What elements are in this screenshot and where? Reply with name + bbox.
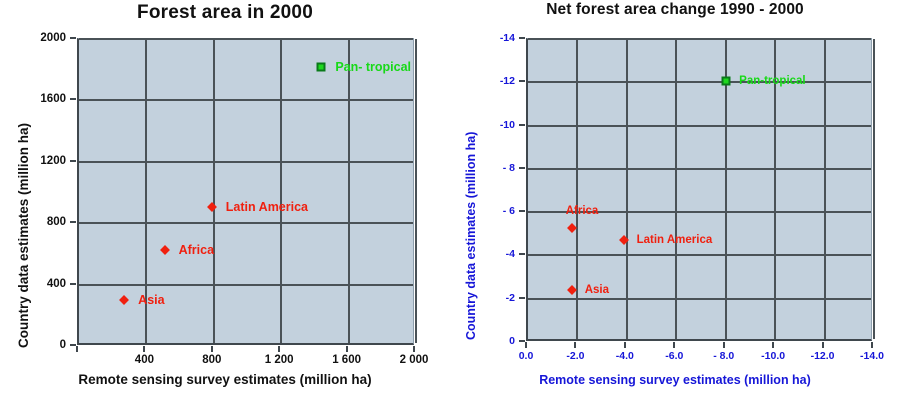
- chart-title: Forest area in 2000: [0, 2, 450, 24]
- y-axis-tick-label: 1200: [0, 155, 66, 167]
- x-axis-tick: [574, 342, 576, 348]
- y-axis-tick: [519, 210, 525, 212]
- x-axis-tick-label: 1 600: [332, 354, 361, 366]
- gridline-vertical: [576, 39, 578, 339]
- x-axis-tick: [624, 342, 626, 348]
- x-axis-tick-label: 0.0: [519, 350, 534, 362]
- x-axis-tick: [723, 342, 725, 348]
- gridline-horizontal: [79, 284, 413, 286]
- data-point-label: Asia: [138, 293, 164, 307]
- x-axis-tick-label: -6.0: [665, 350, 683, 362]
- y-axis-tick-label: -10: [450, 119, 515, 131]
- gridline-horizontal: [79, 222, 413, 224]
- y-axis-tick-label: 2000: [0, 32, 66, 44]
- x-axis-tick: [822, 342, 824, 348]
- x-axis-tick: [278, 346, 280, 352]
- y-axis-tick-label: -12: [450, 75, 515, 87]
- chart-panel-forest-area-2000: Forest area in 2000 04008001200160020004…: [0, 0, 450, 400]
- plot-area: [526, 38, 872, 341]
- y-axis-tick-label: -4: [450, 248, 515, 260]
- y-axis-tick-label: - 6: [450, 205, 515, 217]
- data-point-label: Africa: [179, 243, 214, 257]
- gridline-vertical: [626, 39, 628, 339]
- x-axis-tick-label: - 8.0: [713, 350, 734, 362]
- gridline-vertical: [280, 39, 282, 343]
- data-point-marker[interactable]: [722, 77, 731, 86]
- x-axis-tick: [413, 346, 415, 352]
- x-axis-tick-label: 800: [202, 354, 221, 366]
- data-point-label: Pan- tropical: [335, 60, 411, 74]
- y-axis-tick-label: - 8: [450, 162, 515, 174]
- gridline-horizontal: [528, 125, 871, 127]
- y-axis-tick-label: 1600: [0, 93, 66, 105]
- x-axis-tick: [772, 342, 774, 348]
- gridline-vertical: [213, 39, 215, 343]
- y-axis-tick: [70, 283, 76, 285]
- data-point-label: Pan-tropical: [739, 75, 805, 87]
- gridline-horizontal: [528, 168, 871, 170]
- y-axis-tick: [519, 167, 525, 169]
- x-axis-tick: [346, 346, 348, 352]
- data-point-label: Asia: [585, 284, 609, 296]
- x-axis-tick: [143, 346, 145, 352]
- gridline-vertical: [873, 39, 875, 339]
- gridline-vertical: [675, 39, 677, 339]
- y-axis-tick: [519, 253, 525, 255]
- y-axis-tick-label: 0: [0, 339, 66, 351]
- x-axis-tick-label: -10.0: [761, 350, 785, 362]
- y-axis-tick-label: -14: [450, 32, 515, 44]
- y-axis-tick: [519, 80, 525, 82]
- scatter-plot-figure: Forest area in 2000 04008001200160020004…: [0, 0, 900, 400]
- chart-panel-net-forest-area-change: Net forest area change 1990 - 2000 0-2-4…: [450, 0, 900, 400]
- gridline-horizontal: [528, 298, 871, 300]
- gridline-vertical: [415, 39, 417, 343]
- y-axis-title: Country data estimates (million ha): [16, 123, 31, 348]
- x-axis-tick: [673, 342, 675, 348]
- x-axis-tick-label: -4.0: [616, 350, 634, 362]
- x-axis-tick-label: -12.0: [811, 350, 835, 362]
- y-axis-tick-label: 400: [0, 278, 66, 290]
- gridline-vertical: [348, 39, 350, 343]
- data-point-label: Latin America: [637, 234, 713, 246]
- x-axis-title: Remote sensing survey estimates (million…: [450, 373, 900, 387]
- gridline-horizontal: [79, 38, 413, 40]
- x-axis-tick-label: -2.0: [566, 350, 584, 362]
- y-axis-tick: [70, 37, 76, 39]
- x-axis-tick: [211, 346, 213, 352]
- gridline-horizontal: [528, 254, 871, 256]
- data-point-marker[interactable]: [317, 63, 326, 72]
- x-axis-tick: [76, 346, 78, 352]
- y-axis-title: Country data estimates (million ha): [464, 132, 478, 340]
- y-axis-tick: [70, 221, 76, 223]
- y-axis-tick: [70, 160, 76, 162]
- gridline-horizontal: [79, 161, 413, 163]
- x-axis-tick-label: 400: [135, 354, 154, 366]
- x-axis-tick-label: -14.0: [860, 350, 884, 362]
- x-axis-tick: [871, 342, 873, 348]
- gridline-vertical: [824, 39, 826, 339]
- chart-title: Net forest area change 1990 - 2000: [450, 1, 900, 19]
- x-axis-tick-label: 2 000: [400, 354, 429, 366]
- x-axis-tick: [525, 342, 527, 348]
- gridline-horizontal: [528, 38, 871, 40]
- y-axis-tick: [519, 37, 525, 39]
- data-point-label: Latin America: [226, 200, 308, 214]
- gridline-horizontal: [528, 81, 871, 83]
- y-axis-tick: [519, 297, 525, 299]
- y-axis-tick-label: -2: [450, 292, 515, 304]
- y-axis-tick: [70, 98, 76, 100]
- x-axis-tick-label: 1 200: [265, 354, 294, 366]
- x-axis-title: Remote sensing survey estimates (million…: [0, 372, 450, 387]
- y-axis-tick: [519, 124, 525, 126]
- gridline-horizontal: [79, 99, 413, 101]
- y-axis-tick-label: 0: [450, 335, 515, 347]
- data-point-label: Africa: [566, 205, 599, 217]
- y-axis-tick-label: 800: [0, 216, 66, 228]
